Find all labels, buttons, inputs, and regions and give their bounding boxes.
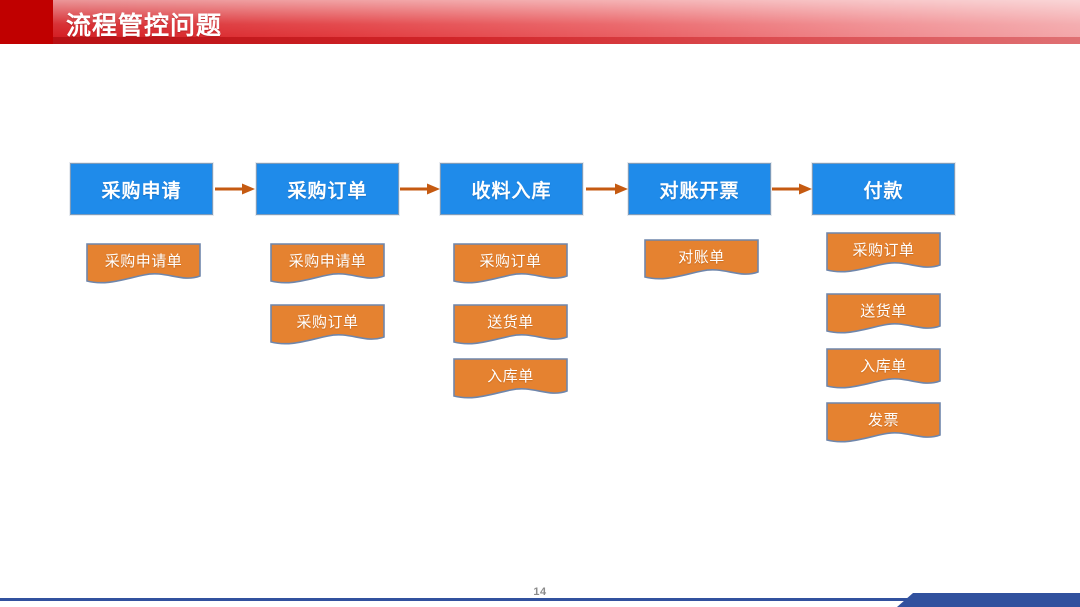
document-shape[interactable]: 入库单 xyxy=(826,348,941,392)
stage-box-1[interactable]: 采购申请 xyxy=(70,163,213,215)
arrow-right-icon-1 xyxy=(215,182,255,196)
document-shape[interactable]: 入库单 xyxy=(453,358,568,402)
document-shape[interactable]: 发票 xyxy=(826,402,941,446)
slide-footer: 14 xyxy=(0,577,1080,607)
stage-box-5[interactable]: 付款 xyxy=(812,163,955,215)
stage-box-3-label: 收料入库 xyxy=(471,176,551,203)
document-shape[interactable]: 对账单 xyxy=(644,239,759,283)
stage-box-3[interactable]: 收料入库 xyxy=(440,163,583,215)
stage-box-5-label: 付款 xyxy=(863,176,903,203)
arrow-right-icon-4 xyxy=(772,182,812,196)
document-shape[interactable]: 采购申请单 xyxy=(270,243,385,287)
process-flow-diagram: 采购申请 采购订单 收料入库 对账开票 付款 xyxy=(0,0,1080,607)
stage-box-1-label: 采购申请 xyxy=(101,176,181,203)
page-title: 流程管控问题 xyxy=(66,6,222,42)
stage-box-2[interactable]: 采购订单 xyxy=(256,163,399,215)
document-shape[interactable]: 采购申请单 xyxy=(86,243,201,287)
footer-accent-shape xyxy=(875,593,1080,607)
stage-box-2-label: 采购订单 xyxy=(287,176,367,203)
document-shape[interactable]: 采购订单 xyxy=(270,304,385,348)
document-shape[interactable]: 采购订单 xyxy=(826,232,941,276)
arrow-right-icon-2 xyxy=(400,182,440,196)
stage-box-4[interactable]: 对账开票 xyxy=(628,163,771,215)
arrow-right-icon-3 xyxy=(586,182,628,196)
document-shape[interactable]: 送货单 xyxy=(453,304,568,348)
stage-box-4-label: 对账开票 xyxy=(659,176,739,203)
document-shape[interactable]: 送货单 xyxy=(826,293,941,337)
document-shape[interactable]: 采购订单 xyxy=(453,243,568,287)
